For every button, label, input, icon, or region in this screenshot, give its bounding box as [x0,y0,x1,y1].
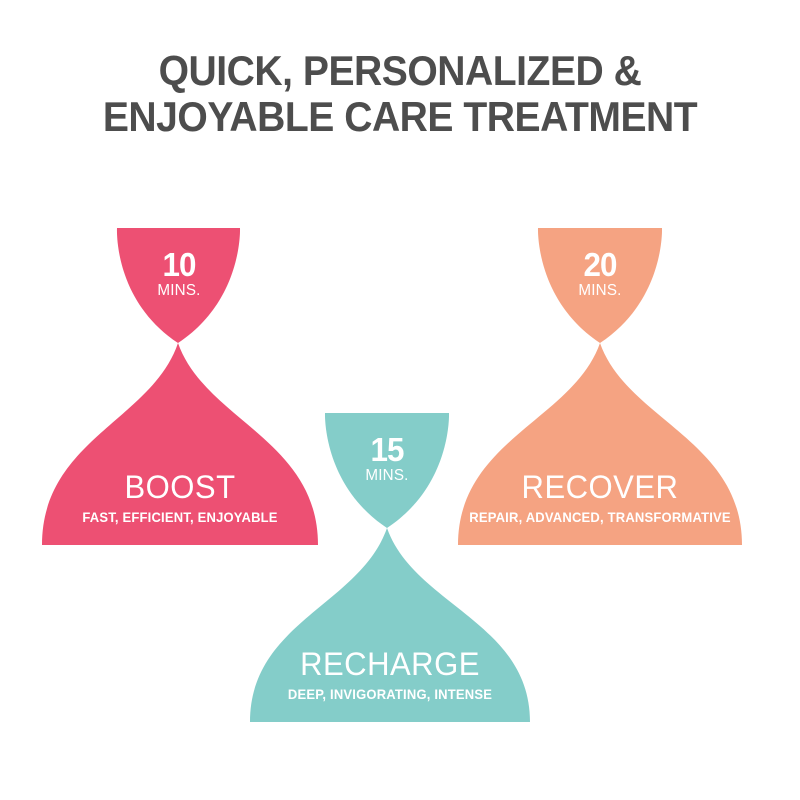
hourglass-recharge-top-cone [325,413,449,528]
hourglass-chart: 10 MINS. BOOST FAST, EFFICIENT, ENJOYABL… [0,0,800,800]
infographic-canvas: QUICK, PERSONALIZED & ENJOYABLE CARE TRE… [0,0,800,800]
hourglass-recharge[interactable] [0,0,800,800]
hourglass-recharge-bottom-bell [250,528,530,722]
